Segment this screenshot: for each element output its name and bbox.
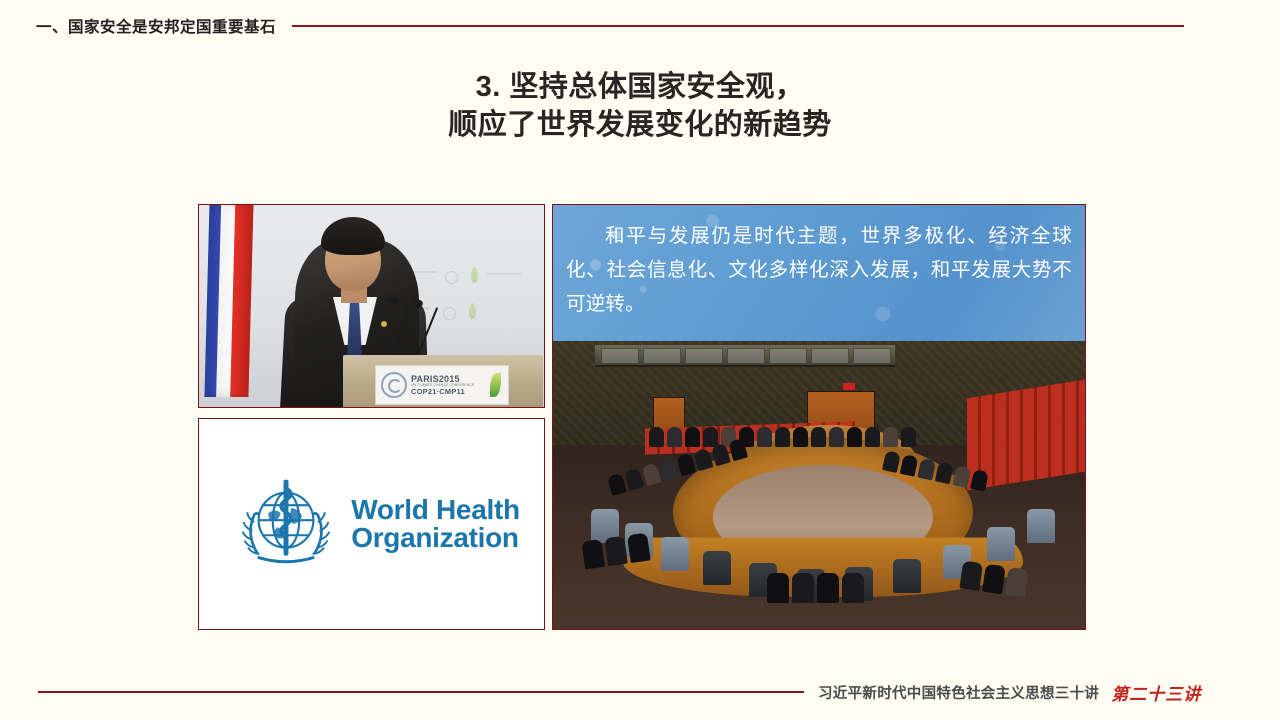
green-leaf-icon [490, 373, 501, 397]
slide-content: PARIS2015 UN CLIMATE CHANGE CONFERENCE C… [198, 204, 1086, 630]
who-emblem-icon [233, 469, 339, 580]
left-image-column: PARIS2015 UN CLIMATE CHANGE CONFERENCE C… [198, 204, 545, 630]
slide-title: 3. 坚持总体国家安全观， 顺应了世界发展变化的新趋势 [0, 68, 1280, 144]
title-line-2: 顺应了世界发展变化的新趋势 [0, 106, 1280, 144]
slide-footer: 习近平新时代中国特色社会主义思想三十讲 第二十三讲 [0, 678, 1280, 706]
right-image-column: 和平与发展仍是时代主题，世界多极化、经济全球化、社会信息化、文化多样化深入发展，… [552, 204, 1086, 630]
xi-hair [321, 217, 385, 255]
footer-divider-line [38, 691, 804, 693]
section-label: 一、国家安全是安邦定国重要基石 [36, 15, 276, 37]
cop21-circle-icon [381, 372, 407, 398]
chair [1027, 509, 1055, 543]
photo-un-security-council [553, 341, 1085, 629]
quote-banner: 和平与发展仍是时代主题，世界多极化、经济全球化、社会信息化、文化多样化深入发展，… [553, 205, 1085, 341]
footer-series-title: 习近平新时代中国特色社会主义思想三十讲 [818, 682, 1099, 703]
who-logo-wrap: World Health Organization [199, 419, 544, 629]
podium-sign: PARIS2015 UN CLIMATE CHANGE CONFERENCE C… [375, 365, 509, 405]
podium-sign-code: COP21·CMP11 [411, 388, 474, 396]
chair [661, 537, 689, 571]
interpreter-booths [595, 345, 895, 367]
chair [987, 527, 1015, 561]
footer-lecture-number: 第二十三讲 [1111, 680, 1201, 705]
photo-xi-jinping-speech: PARIS2015 UN CLIMATE CHANGE CONFERENCE C… [198, 204, 545, 408]
photo-who-logo: World Health Organization [198, 418, 545, 630]
chamber-floor [553, 575, 1085, 629]
delegates-row-back [649, 427, 916, 447]
title-line-1: 3. 坚持总体国家安全观， [0, 68, 1280, 106]
xi-photo-canvas: PARIS2015 UN CLIMATE CHANGE CONFERENCE C… [199, 205, 544, 407]
who-logo-line-1: World Health [351, 496, 520, 524]
xi-lapel-pin [381, 321, 387, 327]
podium-sign-text: PARIS2015 UN CLIMATE CHANGE CONFERENCE C… [411, 375, 474, 396]
header-divider-line [292, 25, 1184, 27]
french-flag [204, 204, 253, 397]
exit-sign [843, 383, 855, 390]
presentation-slide: 一、国家安全是安邦定国重要基石 3. 坚持总体国家安全观， 顺应了世界发展变化的… [0, 0, 1280, 720]
slide-header: 一、国家安全是安邦定国重要基石 [0, 12, 1280, 40]
who-logo-text: World Health Organization [351, 496, 520, 552]
quote-text: 和平与发展仍是时代主题，世界多极化、经济全球化、社会信息化、文化多样化深入发展，… [566, 219, 1072, 321]
who-logo-line-2: Organization [351, 524, 520, 552]
